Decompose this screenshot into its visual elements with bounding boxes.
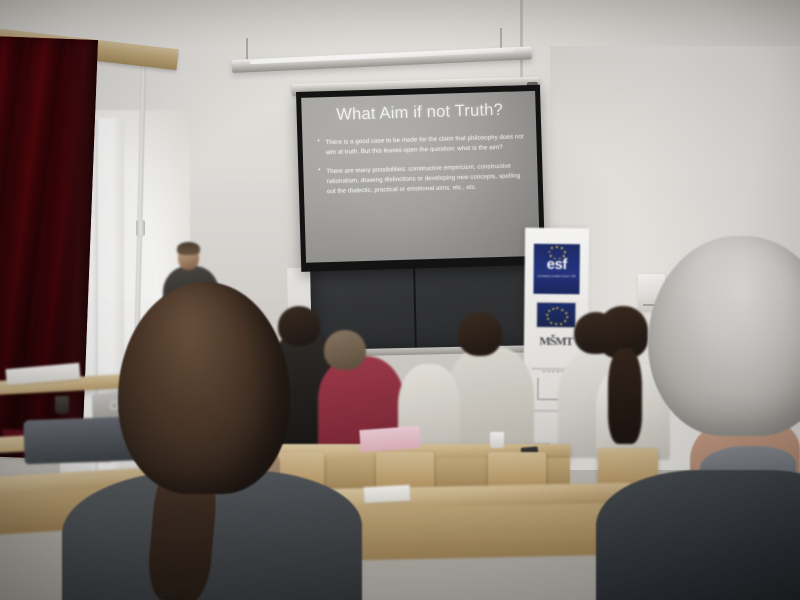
ceiling (0, 0, 800, 46)
audience-member-head (278, 306, 320, 346)
slide-title: What Aim if not Truth? (315, 100, 523, 124)
cup (55, 396, 69, 414)
audience-member-head (324, 330, 366, 370)
slide-bullet: There is a good case to be made for the … (316, 132, 525, 158)
esf-logo: esf evropský sociální fond v ČR (533, 244, 580, 294)
papers (364, 485, 411, 503)
lecture-hall-photo: What Aim if not Truth? There is a good c… (0, 0, 800, 600)
projection-screen: What Aim if not Truth? There is a good c… (296, 85, 545, 272)
audience-member-head (458, 312, 502, 356)
paper-cup (490, 432, 504, 448)
screen-surface: What Aim if not Truth? There is a good c… (301, 91, 540, 263)
hair (118, 282, 290, 494)
eu-stars-icon (545, 246, 569, 259)
esf-subtitle: evropský sociální fond v ČR (537, 274, 575, 279)
msmt-mark: MŠMT (539, 334, 572, 348)
torso (596, 470, 800, 600)
pipe-joint-icon (136, 220, 145, 236)
eu-flag-stars (537, 303, 575, 327)
pink-paper (359, 426, 420, 452)
eu-flag-icon (536, 302, 576, 328)
presenter-hair (177, 242, 200, 255)
slide-bullet: There are many possibilities: constructi… (317, 161, 526, 197)
audience-member-hair (608, 348, 642, 444)
esf-wordmark: esf (547, 258, 567, 272)
slide-bullet-list: There is a good case to be made for the … (316, 132, 526, 197)
chalkboard-divider (413, 260, 417, 352)
presentation-slide: What Aim if not Truth? There is a good c… (301, 91, 540, 263)
msmt-logo: MŠMT (538, 336, 574, 360)
